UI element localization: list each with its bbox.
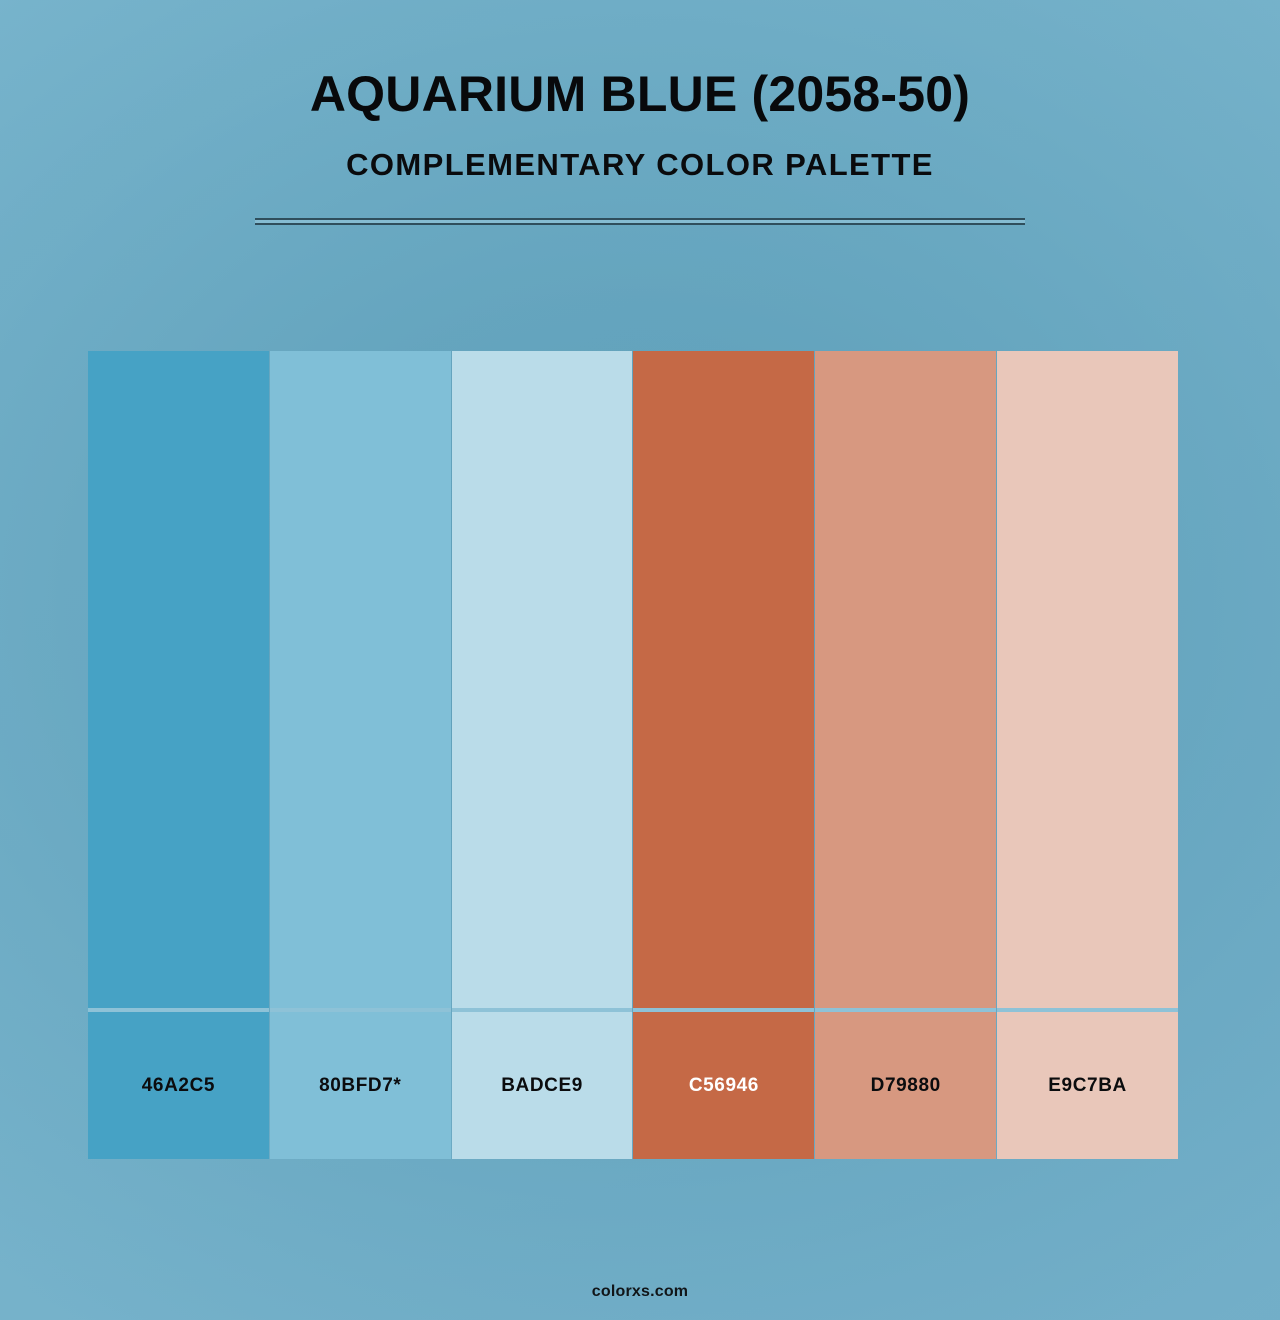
- swatch-color-block[interactable]: [452, 351, 633, 1008]
- palette-swatch-46A2C5[interactable]: 46A2C5: [88, 351, 269, 1159]
- page-title: AQUARIUM BLUE (2058-50): [0, 66, 1280, 122]
- swatch-label-area[interactable]: 46A2C5: [88, 1012, 269, 1159]
- swatch-hex-label: C56946: [689, 1075, 759, 1097]
- palette-swatch-80BFD7[interactable]: 80BFD7*: [270, 351, 451, 1159]
- palette-swatch-BADCE9[interactable]: BADCE9: [452, 351, 633, 1159]
- header: AQUARIUM BLUE (2058-50) COMPLEMENTARY CO…: [0, 0, 1280, 225]
- palette-swatch-E9C7BA[interactable]: E9C7BA: [997, 351, 1178, 1159]
- swatch-label-area[interactable]: BADCE9: [452, 1012, 633, 1159]
- swatch-hex-label: 46A2C5: [142, 1075, 215, 1097]
- color-palette-page: AQUARIUM BLUE (2058-50) COMPLEMENTARY CO…: [0, 0, 1280, 1320]
- swatch-hex-label: 80BFD7*: [319, 1075, 401, 1097]
- palette-strip: 46A2C580BFD7*BADCE9C56946D79880E9C7BA: [88, 351, 1178, 1159]
- swatch-color-block[interactable]: [815, 351, 996, 1008]
- swatch-hex-label: D79880: [871, 1075, 941, 1097]
- palette-swatch-C56946[interactable]: C56946: [633, 351, 814, 1159]
- swatch-color-block[interactable]: [270, 351, 451, 1008]
- swatch-label-area[interactable]: D79880: [815, 1012, 996, 1159]
- swatch-hex-label: BADCE9: [501, 1075, 583, 1097]
- swatch-label-area[interactable]: 80BFD7*: [270, 1012, 451, 1159]
- site-watermark: colorxs.com: [592, 1283, 688, 1300]
- footer: colorxs.com: [0, 1283, 1280, 1301]
- swatch-label-area[interactable]: E9C7BA: [997, 1012, 1178, 1159]
- swatch-color-block[interactable]: [88, 351, 269, 1008]
- header-divider: [255, 218, 1025, 225]
- swatch-label-area[interactable]: C56946: [633, 1012, 814, 1159]
- swatch-color-block[interactable]: [997, 351, 1178, 1008]
- page-subtitle: COMPLEMENTARY COLOR PALETTE: [0, 122, 1280, 182]
- swatch-color-block[interactable]: [633, 351, 814, 1008]
- swatch-hex-label: E9C7BA: [1048, 1075, 1127, 1097]
- palette-swatch-D79880[interactable]: D79880: [815, 351, 996, 1159]
